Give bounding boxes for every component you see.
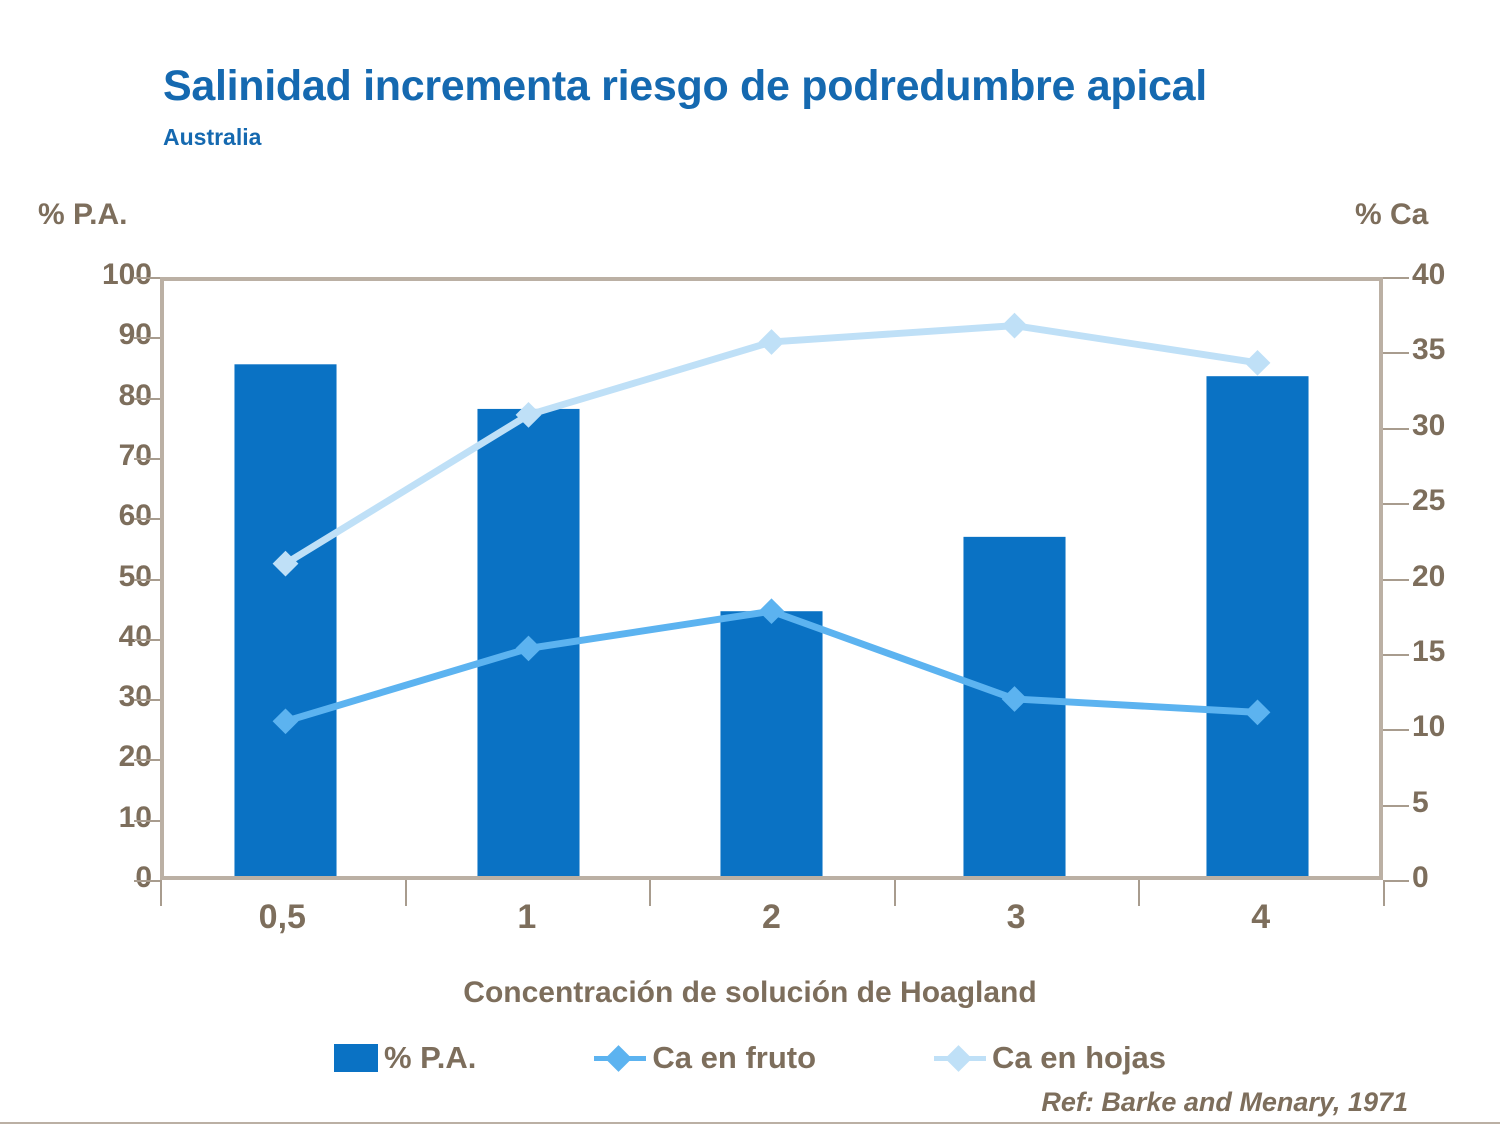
y2-axis-tick-label: 30 — [1412, 411, 1445, 441]
y-axis-tick-label: 40 — [119, 622, 152, 652]
bottom-divider — [0, 1122, 1500, 1124]
y2-axis-tick-label: 15 — [1412, 637, 1445, 667]
x-axis-tick-label: 2 — [762, 898, 781, 937]
y-axis-tick-label: 10 — [119, 803, 152, 833]
y-axis-tick-mark — [134, 277, 160, 279]
y-axis-tick-label: 30 — [119, 682, 152, 712]
x-axis-tick-label: 4 — [1251, 898, 1270, 937]
y2-axis-tick-mark — [1383, 880, 1409, 882]
legend-item-label: % P.A. — [384, 1040, 476, 1076]
data-point-marker — [1245, 350, 1271, 376]
y-axis-tick-mark — [134, 639, 160, 641]
line-path — [286, 326, 1258, 564]
legend-item-label: Ca en fruto — [652, 1040, 816, 1076]
legend-item[interactable]: Ca en hojas — [934, 1040, 1166, 1076]
line-series — [273, 313, 1271, 577]
x-axis-tick-mark — [160, 880, 162, 906]
reference-note: Ref: Barke and Menary, 1971 — [1041, 1087, 1408, 1118]
x-axis-tick-mark — [649, 880, 651, 906]
chart-legend: % P.A.Ca en frutoCa en hojas — [0, 1040, 1500, 1076]
y2-axis-tick-label: 5 — [1412, 788, 1429, 818]
y2-axis-tick-mark — [1383, 579, 1409, 581]
y-axis-tick-mark — [134, 337, 160, 339]
y2-axis-tick-label: 35 — [1412, 335, 1445, 365]
y2-axis-tick-mark — [1383, 352, 1409, 354]
data-point-marker — [1002, 313, 1028, 339]
right-axis-title: % Ca — [1355, 198, 1428, 232]
left-axis-title: % P.A. — [38, 198, 128, 232]
y-axis-tick-label: 100 — [102, 260, 152, 290]
y2-axis-tick-label: 10 — [1412, 712, 1445, 742]
legend-item[interactable]: Ca en fruto — [594, 1040, 816, 1076]
legend-diamond-line-swatch-icon — [594, 1045, 646, 1071]
plot-area — [160, 277, 1383, 880]
y-axis-tick-mark — [134, 880, 160, 882]
plot-canvas — [164, 281, 1379, 876]
x-axis-tick-mark — [894, 880, 896, 906]
y-axis-tick-label: 50 — [119, 562, 152, 592]
y-axis-tick-mark — [134, 458, 160, 460]
x-axis-tick-mark — [405, 880, 407, 906]
y2-axis-tick-mark — [1383, 428, 1409, 430]
y2-axis-tick-mark — [1383, 805, 1409, 807]
x-axis-tick-label: 0,5 — [259, 898, 306, 937]
y2-axis-tick-label: 40 — [1412, 260, 1445, 290]
x-axis-tick-label: 3 — [1007, 898, 1026, 937]
y-axis-tick-mark — [134, 820, 160, 822]
y-axis-tick-label: 70 — [119, 441, 152, 471]
bar — [234, 364, 336, 876]
legend-diamond-line-swatch-icon — [934, 1045, 986, 1071]
legend-item-label: Ca en hojas — [992, 1040, 1166, 1076]
y2-axis-tick-label: 0 — [1412, 863, 1429, 893]
y2-axis-tick-mark — [1383, 503, 1409, 505]
chart-subtitle: Australia — [163, 124, 261, 151]
y-axis-tick-mark — [134, 518, 160, 520]
x-axis-tick-mark — [1138, 880, 1140, 906]
y-axis-tick-mark — [134, 759, 160, 761]
y-axis-tick-label: 90 — [119, 320, 152, 350]
y-axis-tick-label: 80 — [119, 381, 152, 411]
y-axis-tick-label: 20 — [119, 742, 152, 772]
x-axis-tick-label: 1 — [517, 898, 536, 937]
x-axis-tick-mark — [1383, 880, 1385, 906]
y-axis-tick-label: 60 — [119, 501, 152, 531]
y2-axis-tick-mark — [1383, 654, 1409, 656]
y-axis-tick-mark — [134, 398, 160, 400]
y-axis-tick-label: 0 — [135, 863, 152, 893]
y2-axis-tick-label: 20 — [1412, 562, 1445, 592]
y-axis-tick-mark — [134, 699, 160, 701]
bar — [720, 611, 822, 876]
legend-square-swatch-icon — [334, 1044, 378, 1072]
y2-axis-tick-mark — [1383, 277, 1409, 279]
data-point-marker — [759, 329, 785, 355]
bar — [1206, 376, 1308, 876]
legend-item[interactable]: % P.A. — [334, 1040, 476, 1076]
y2-axis-tick-label: 25 — [1412, 486, 1445, 516]
x-axis-title: Concentración de solución de Hoagland — [0, 976, 1500, 1010]
y2-axis-tick-mark — [1383, 729, 1409, 731]
y-axis-tick-mark — [134, 579, 160, 581]
chart-title: Salinidad incrementa riesgo de podredumb… — [163, 62, 1207, 111]
